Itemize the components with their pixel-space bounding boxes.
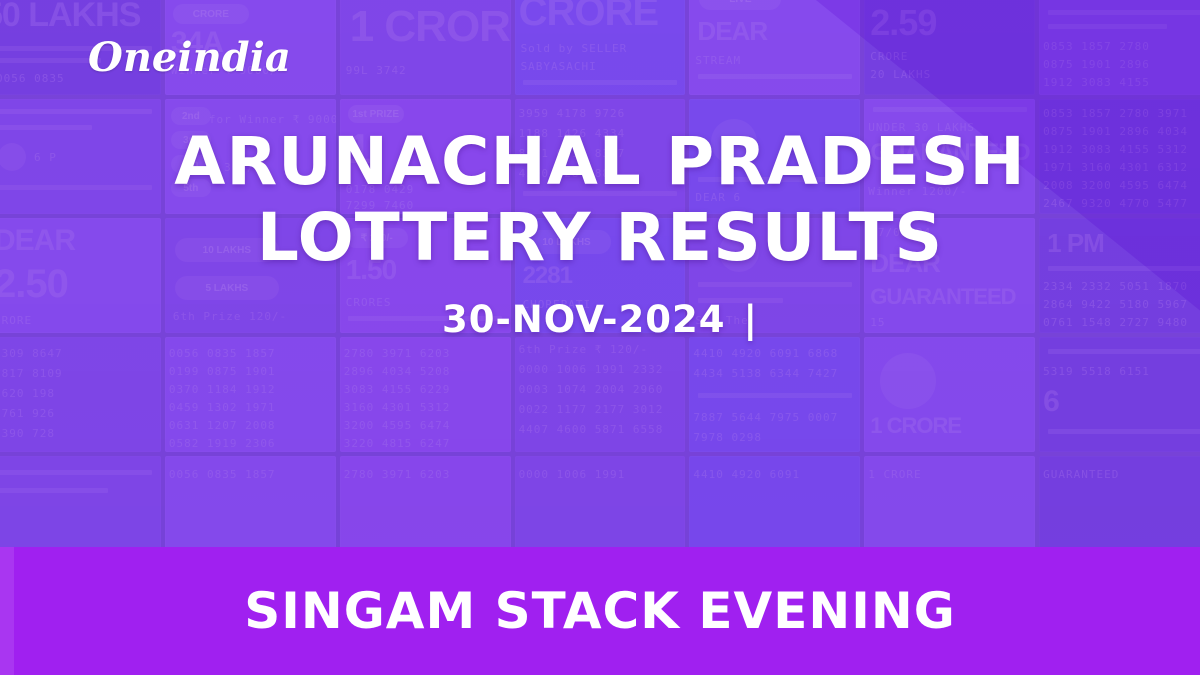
banner-content: Oneindia ARUNACHAL PRADESH LOTTERY RESUL… bbox=[0, 0, 1200, 675]
draw-name-label: SINGAM STACK EVENING bbox=[244, 582, 955, 640]
draw-date-row: 30-NOV-2024| bbox=[0, 298, 1200, 341]
oneindia-logo[interactable]: Oneindia bbox=[88, 34, 291, 81]
date-separator: | bbox=[744, 298, 759, 341]
page-title-line-2: LOTTERY RESULTS bbox=[0, 200, 1200, 276]
hero-titles: ARUNACHAL PRADESH LOTTERY RESULTS 30-NOV… bbox=[0, 124, 1200, 341]
lottery-result-banner: 50 LAKHS 0056 0835 CRORE 34A Winner ₹ 90… bbox=[0, 0, 1200, 675]
draw-name-banner: SINGAM STACK EVENING bbox=[0, 547, 1200, 675]
page-title-line-1: ARUNACHAL PRADESH bbox=[0, 124, 1200, 200]
draw-date: 30-NOV-2024 bbox=[442, 298, 726, 341]
footer-accent-strip bbox=[0, 547, 14, 675]
